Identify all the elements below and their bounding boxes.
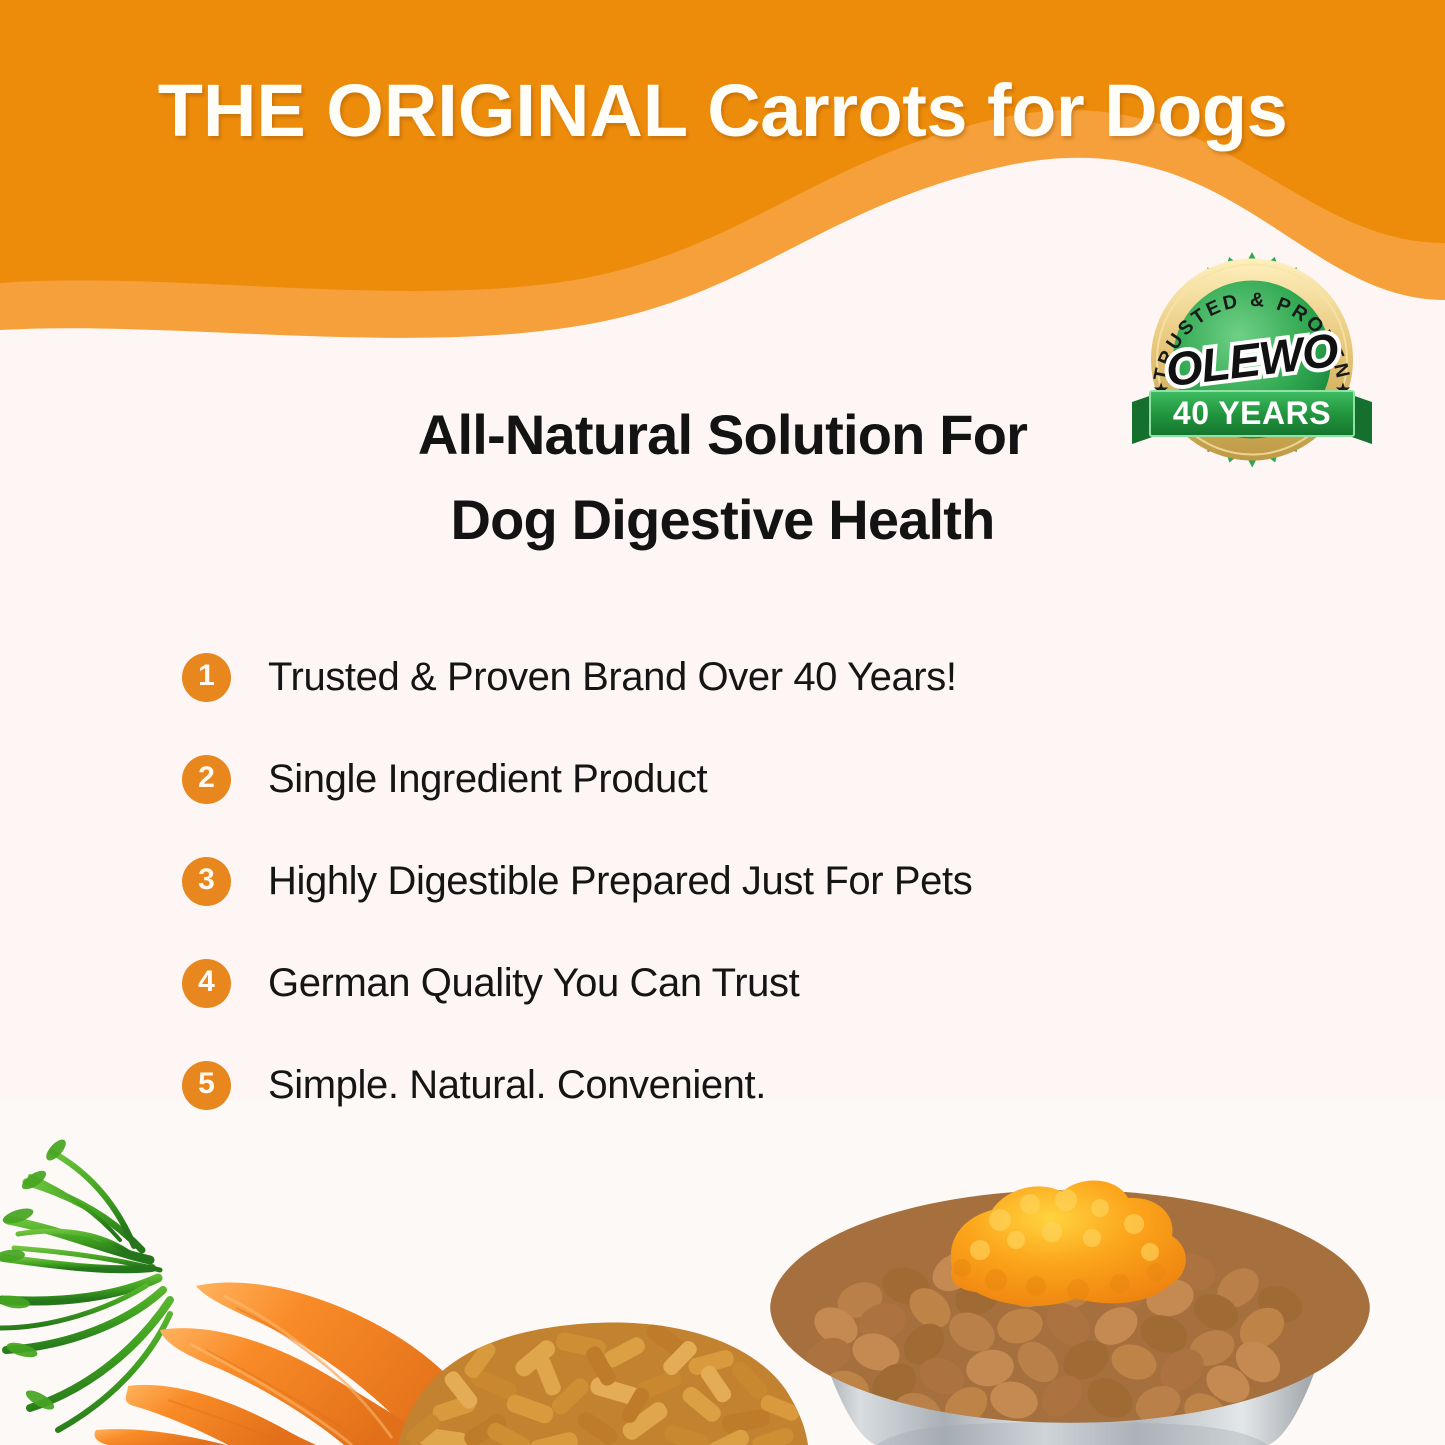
page-title-rest: Carrots for Dogs	[707, 69, 1287, 152]
benefit-number-badge: 5	[182, 1061, 231, 1110]
trust-seal-badge: TRUSTED & PROVEN ★ ★ OLEWO 40 YEARS	[1118, 246, 1386, 514]
benefit-label: Simple. Natural. Convenient.	[268, 1063, 766, 1108]
benefit-number-badge: 2	[182, 755, 231, 804]
list-item: 4 German Quality You Can Trust	[182, 932, 1332, 1034]
benefit-label: Highly Digestible Prepared Just For Pets	[268, 859, 972, 904]
benefits-list: 1 Trusted & Proven Brand Over 40 Years! …	[182, 626, 1332, 1136]
list-item: 1 Trusted & Proven Brand Over 40 Years!	[182, 626, 1332, 728]
list-item: 2 Single Ingredient Product	[182, 728, 1332, 830]
benefit-number-badge: 1	[182, 653, 231, 702]
list-item: 5 Simple. Natural. Convenient.	[182, 1034, 1332, 1136]
benefit-number-badge: 3	[182, 857, 231, 906]
page-title-lead: THE ORIGINAL	[158, 69, 708, 152]
benefit-label: German Quality You Can Trust	[268, 961, 799, 1006]
benefit-number-badge: 4	[182, 959, 231, 1008]
seal-ribbon-text: 40 YEARS	[1173, 395, 1331, 431]
benefit-label: Trusted & Proven Brand Over 40 Years!	[268, 655, 957, 700]
seal-ribbon: 40 YEARS	[1132, 391, 1372, 444]
page-title: THE ORIGINAL Carrots for Dogs	[0, 68, 1445, 153]
list-item: 3 Highly Digestible Prepared Just For Pe…	[182, 830, 1332, 932]
benefit-label: Single Ingredient Product	[268, 757, 707, 802]
product-photo-band	[0, 1100, 1445, 1445]
